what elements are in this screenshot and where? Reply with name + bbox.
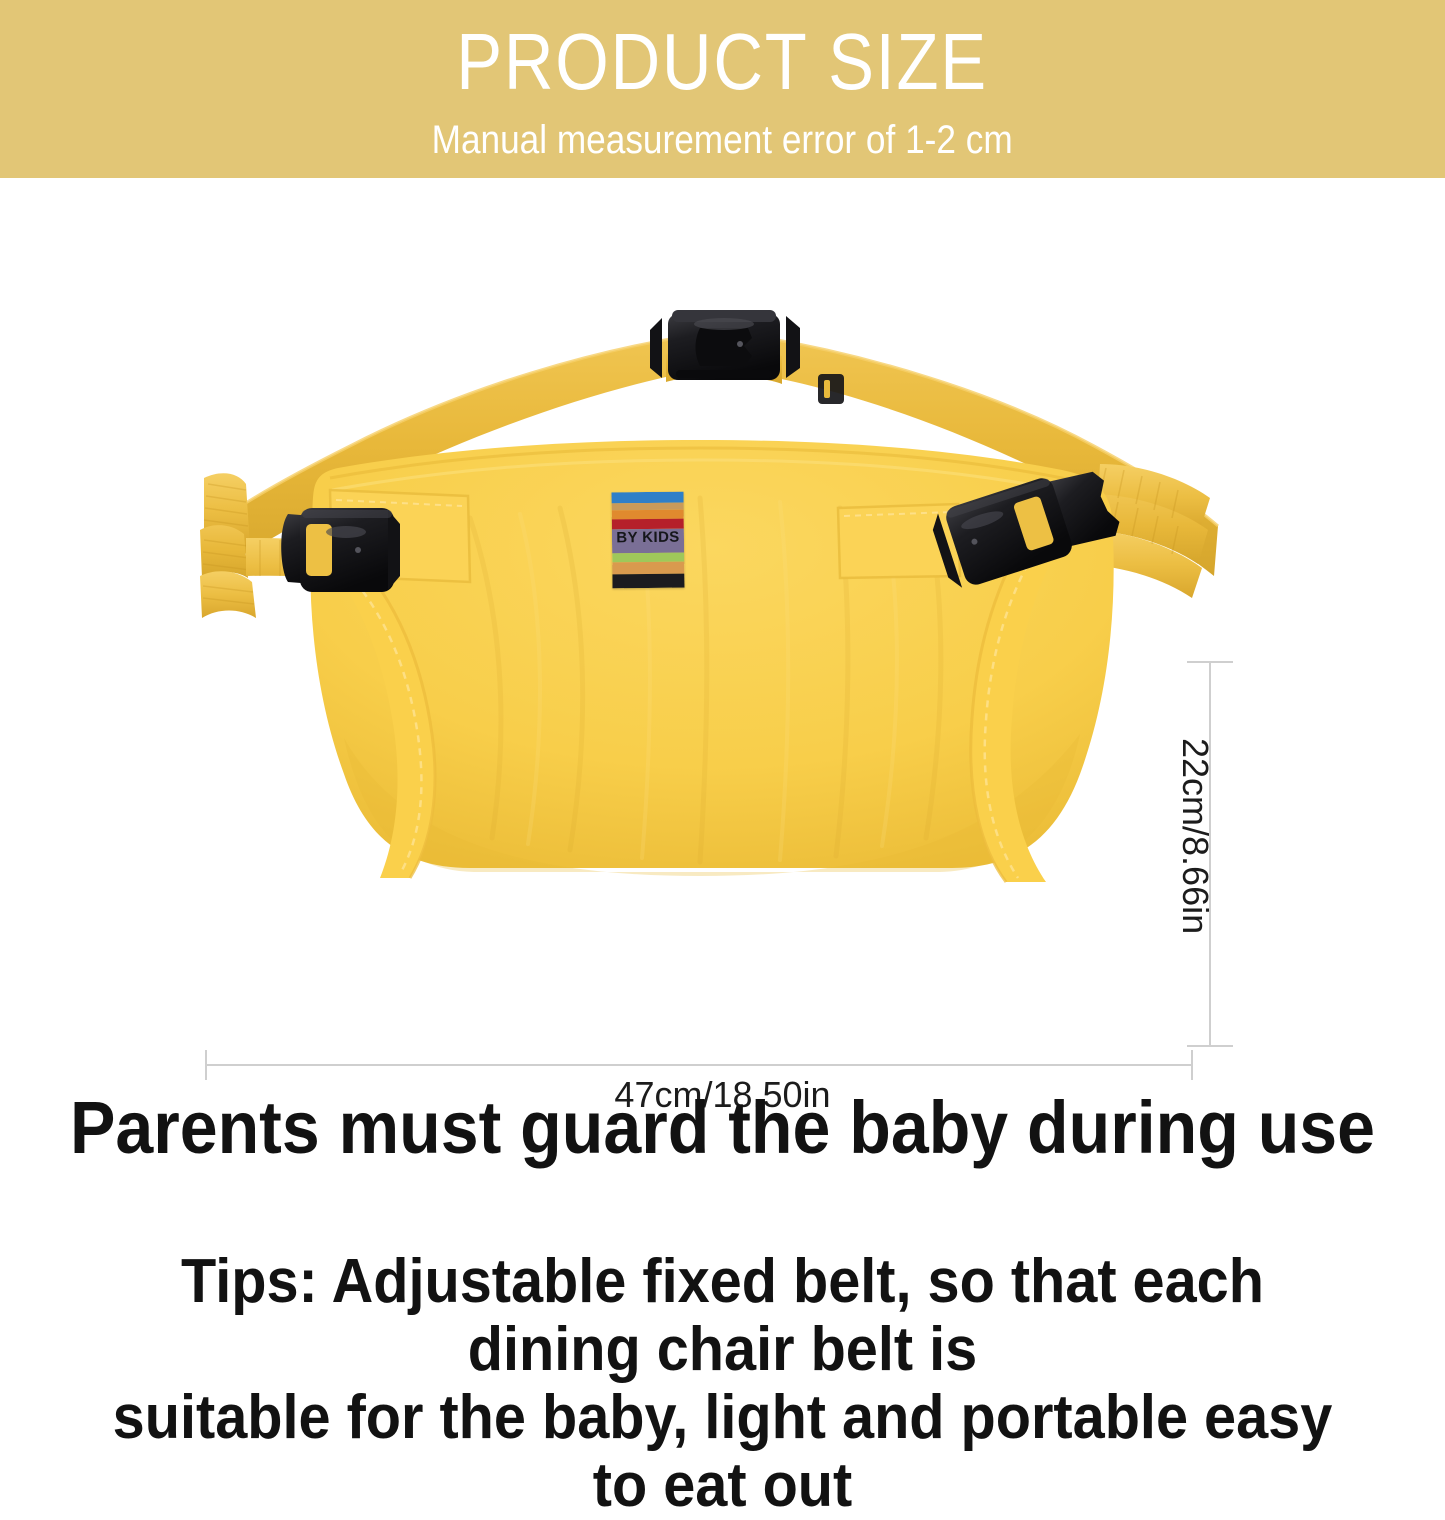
dimension-cap-bottom (1187, 1045, 1233, 1047)
width-dimension-line (205, 1064, 1193, 1066)
banner-subtitle: Manual measurement error of 1-2 cm (432, 116, 1013, 164)
banner-title: PRODUCT SIZE (457, 16, 989, 108)
tips-line-2: suitable for the baby, light and portabl… (106, 1384, 1338, 1520)
label-stripe (612, 562, 684, 575)
tips-line-1: Tips: Adjustable fixed belt, so that eac… (181, 1247, 1264, 1384)
label-stripe (612, 574, 684, 589)
center-buckle (650, 310, 800, 384)
product-photo-stage: BY KIDS 22cm/8.66in 47cm/18.50in (0, 178, 1445, 968)
height-dimension-label: 22cm/8.66in (1174, 738, 1216, 934)
safety-headline: Parents must guard the baby during use (58, 1087, 1387, 1169)
strap-adjuster-right (818, 374, 844, 404)
left-side-buckle (281, 508, 400, 592)
product-illustration (0, 178, 1445, 968)
brand-label: BY KIDS (611, 492, 684, 589)
label-stripe (611, 492, 683, 504)
dimension-cap-top (1187, 661, 1233, 663)
tips-paragraph: Tips: Adjustable fixed belt, so that eac… (106, 1248, 1338, 1520)
product-size-banner: PRODUCT SIZE Manual measurement error of… (0, 0, 1445, 178)
brand-label-text: BY KIDS (612, 529, 684, 547)
